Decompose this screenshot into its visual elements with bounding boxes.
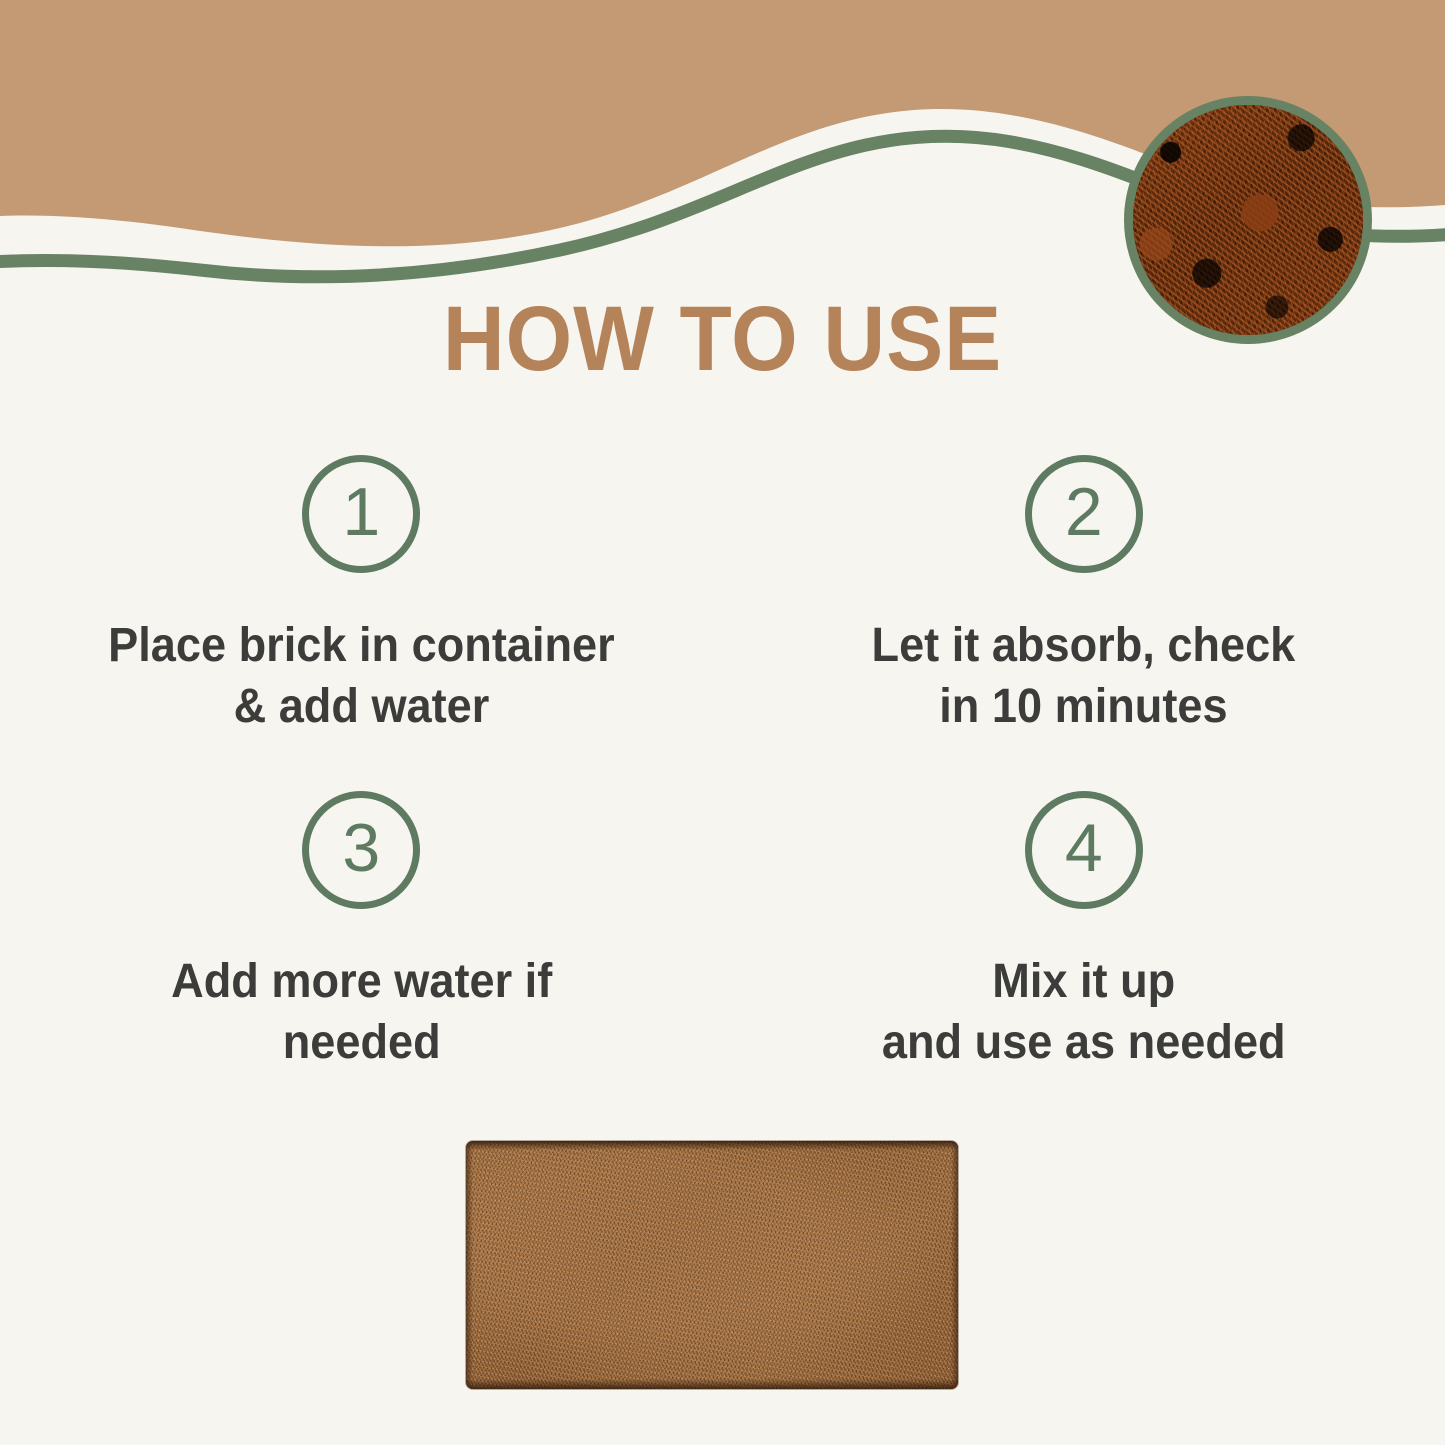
brick-texture-fill [466,1141,958,1389]
step-item-2: 2 Let it absorb, check in 10 minutes [723,455,1445,791]
step-item-1: 1 Place brick in container & add water [0,455,723,791]
step-description-1: Place brick in container & add water [108,615,615,738]
step-item-3: 3 Add more water if needed [0,791,723,1127]
step-number-badge-4: 4 [1025,791,1143,909]
step-number-label-4: 4 [1065,814,1103,882]
how-to-use-infographic: HOW TO USE 1 Place brick in container & … [0,0,1445,1445]
step-number-label-3: 3 [342,814,380,882]
page-title: HOW TO USE [51,287,1395,392]
step-number-label-2: 2 [1065,478,1103,546]
step-number-badge-3: 3 [302,791,420,909]
steps-grid: 1 Place brick in container & add water 2… [0,455,1445,1127]
step-number-badge-1: 1 [302,455,420,573]
step-description-3: Add more water if needed [171,951,552,1074]
brick-edge-bottom [466,1379,958,1389]
brick-edge-top [466,1141,958,1150]
step-number-badge-2: 2 [1025,455,1143,573]
step-number-label-1: 1 [342,478,380,546]
step-description-2: Let it absorb, check in 10 minutes [862,615,1305,738]
brick-edge-left [466,1141,473,1389]
step-item-4: 4 Mix it up and use as needed [723,791,1445,1127]
brick-edge-right [951,1141,958,1389]
step-description-4: Mix it up and use as needed [872,951,1295,1074]
coir-brick-image [466,1141,958,1389]
